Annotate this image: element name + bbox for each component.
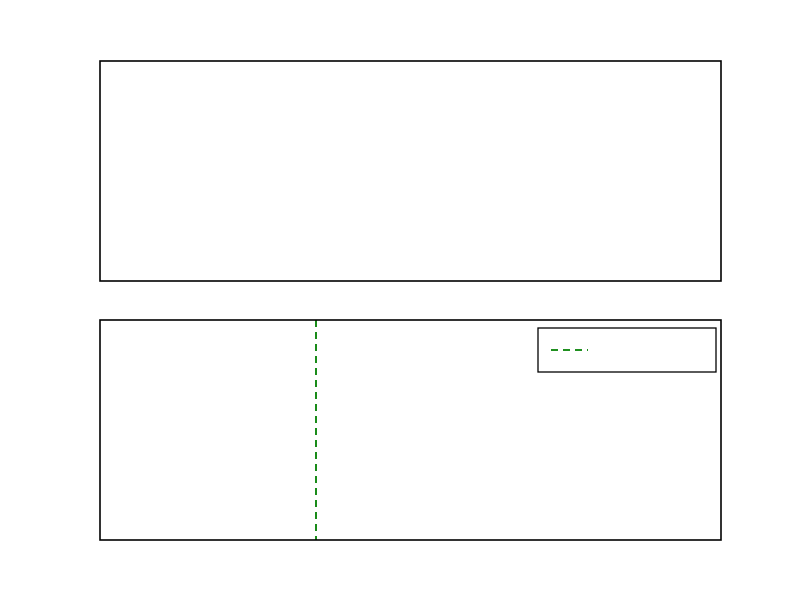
axes-differential-histogram — [100, 61, 721, 281]
matplotlib-figure — [0, 0, 800, 600]
axes-cumulative-histogram — [100, 320, 721, 540]
legend[interactable] — [538, 328, 716, 372]
figure-canvas — [0, 0, 800, 600]
axes-top-frame — [100, 61, 721, 281]
